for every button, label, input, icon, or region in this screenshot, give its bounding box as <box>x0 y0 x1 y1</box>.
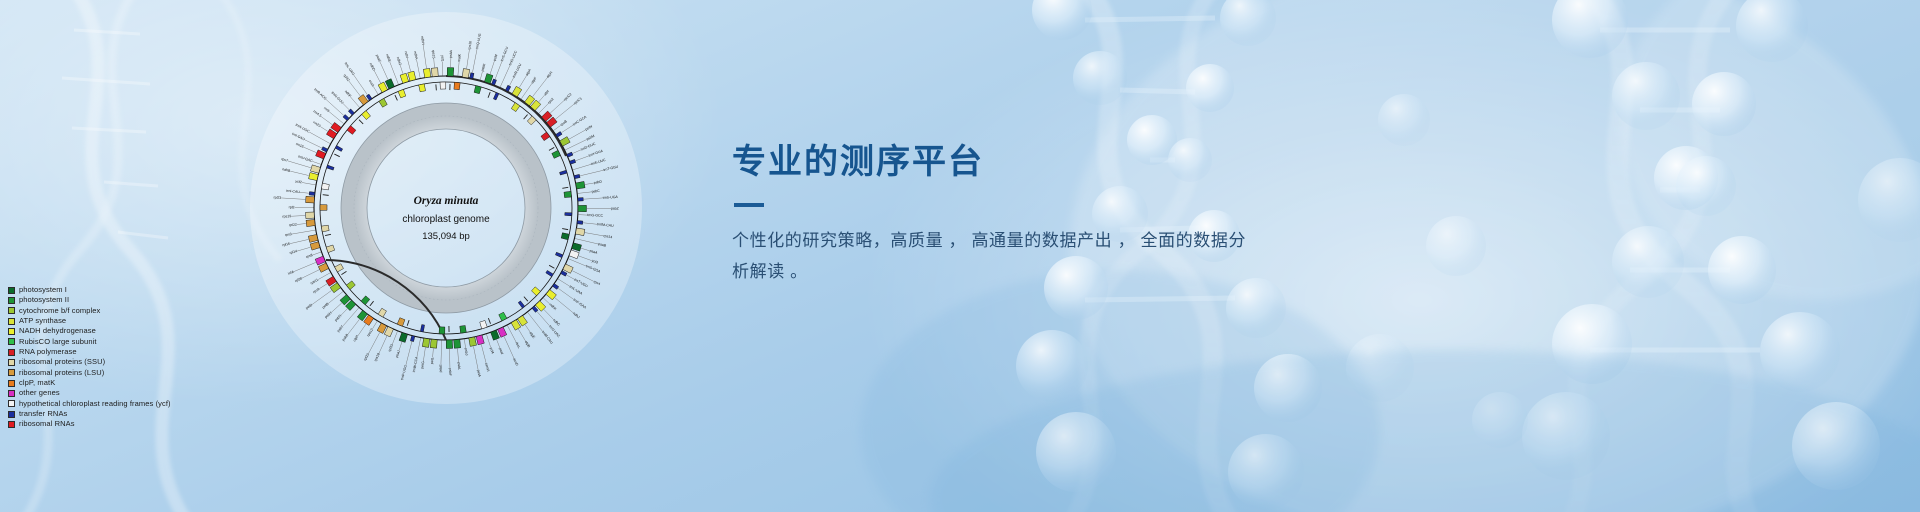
gene-box <box>577 221 583 225</box>
legend-label: cytochrome b/f complex <box>19 306 100 316</box>
gene-box <box>439 327 445 334</box>
gene-label: psbF <box>448 368 452 376</box>
legend-swatch <box>8 411 15 418</box>
gene-label: rpl23 <box>273 195 281 199</box>
banner-copy: 专业的测序平台 个性化的研究策略，高质量 ， 高通量的数据产出 ， 全面的数据分… <box>732 140 1272 287</box>
gene-label: psbA <box>449 49 453 58</box>
gene-box <box>576 181 585 189</box>
legend-item: ribosomal proteins (LSU) <box>8 368 171 378</box>
legend-swatch <box>8 297 15 304</box>
legend-swatch <box>8 287 15 294</box>
gene-box <box>321 225 329 232</box>
legend-item: ATP synthase <box>8 316 171 326</box>
legend-swatch <box>8 400 15 407</box>
gene-box <box>575 228 584 236</box>
gene-box <box>306 220 315 227</box>
gene-box <box>564 191 572 197</box>
legend-label: RNA polymerase <box>19 347 77 357</box>
gene-box <box>578 198 584 202</box>
legend-item: ribosomal proteins (SSU) <box>8 357 171 367</box>
gene-box <box>565 213 572 216</box>
gene-box <box>306 212 315 219</box>
gene-box <box>423 68 430 77</box>
legend-swatch <box>8 369 15 376</box>
legend-label: ribosomal RNAs <box>19 419 75 429</box>
chloroplast-genome-map: psbAmatKrps16trnQ-UUGpsbKpsbItrnS-GCUtrn… <box>246 8 646 408</box>
legend-swatch <box>8 421 15 428</box>
title-divider <box>734 203 764 207</box>
legend-label: ribosomal proteins (LSU) <box>19 368 104 378</box>
gene-label: rpl22 <box>289 222 297 227</box>
gene-box <box>454 82 460 89</box>
gene-box <box>430 339 437 348</box>
legend-swatch <box>8 328 15 335</box>
gene-label: psbL <box>457 362 462 370</box>
legend-item: photosystem II <box>8 295 171 305</box>
gene-label: ycf1 <box>440 55 444 62</box>
gene-box <box>309 192 315 196</box>
legend-label: transfer RNAs <box>19 409 67 419</box>
legend-item: hypothetical chloroplast reading frames … <box>8 399 171 409</box>
gene-box <box>578 205 587 211</box>
gene-category-legend: photosystem Iphotosystem IIcytochrome b/… <box>8 285 171 430</box>
gene-box <box>447 68 453 77</box>
legend-item: other genes <box>8 388 171 398</box>
legend-label: hypothetical chloroplast reading frames … <box>19 399 171 409</box>
legend-swatch <box>8 338 15 345</box>
gene-box <box>454 339 461 348</box>
gene-label: trnG-GCC <box>587 213 603 218</box>
genome-length: 135,094 bp <box>422 231 470 242</box>
legend-label: ribosomal proteins (SSU) <box>19 357 105 367</box>
gene-label: rps19 <box>282 214 291 218</box>
gene-box <box>419 84 426 92</box>
gene-label: psbZ <box>611 207 620 211</box>
legend-swatch <box>8 390 15 397</box>
gene-label: matK <box>457 53 462 62</box>
genome-subtitle: chloroplast genome <box>402 214 490 225</box>
legend-swatch <box>8 318 15 325</box>
genome-map-svg: psbAmatKrps16trnQ-UUGpsbKpsbItrnS-GCUtrn… <box>246 8 646 408</box>
legend-label: clpP, matK <box>19 378 55 388</box>
gene-box <box>321 183 329 190</box>
gene-label: rpl2 <box>289 205 295 209</box>
legend-label: RubisCO large subunit <box>19 337 97 347</box>
legend-label: ATP synthase <box>19 316 66 326</box>
legend-item: clpP, matK <box>8 378 171 388</box>
genome-organism-name: Oryza minuta <box>414 195 479 207</box>
legend-item: RNA polymerase <box>8 347 171 357</box>
gene-box <box>460 325 467 333</box>
legend-item: NADH dehydrogenase <box>8 326 171 336</box>
gene-box <box>320 205 327 211</box>
gene-label: petL <box>430 357 435 364</box>
gene-label: rps15 <box>431 50 436 59</box>
gene-box <box>422 338 429 347</box>
legend-swatch <box>8 359 15 366</box>
banner-description: 个性化的研究策略，高质量 ， 高通量的数据产出 ， 全面的数据分析解读 。 <box>732 225 1248 287</box>
legend-label: photosystem I <box>19 285 67 295</box>
legend-label: photosystem II <box>19 295 69 305</box>
legend-label: other genes <box>19 388 60 398</box>
legend-swatch <box>8 307 15 314</box>
gene-box <box>462 69 469 78</box>
gene-box <box>440 82 446 89</box>
gene-box <box>431 68 438 77</box>
page-title: 专业的测序平台 <box>732 140 1272 184</box>
hero-banner: psbAmatKrps16trnQ-UUGpsbKpsbItrnS-GCUtrn… <box>0 0 1920 512</box>
legend-item: RubisCO large subunit <box>8 337 171 347</box>
legend-item: photosystem I <box>8 285 171 295</box>
gene-box <box>446 340 452 349</box>
gene-box <box>306 196 315 203</box>
legend-swatch <box>8 380 15 387</box>
legend-swatch <box>8 349 15 356</box>
legend-label: NADH dehydrogenase <box>19 326 96 336</box>
legend-item: ribosomal RNAs <box>8 419 171 429</box>
gene-label: psbE <box>439 364 443 373</box>
legend-item: transfer RNAs <box>8 409 171 419</box>
legend-item: cytochrome b/f complex <box>8 306 171 316</box>
